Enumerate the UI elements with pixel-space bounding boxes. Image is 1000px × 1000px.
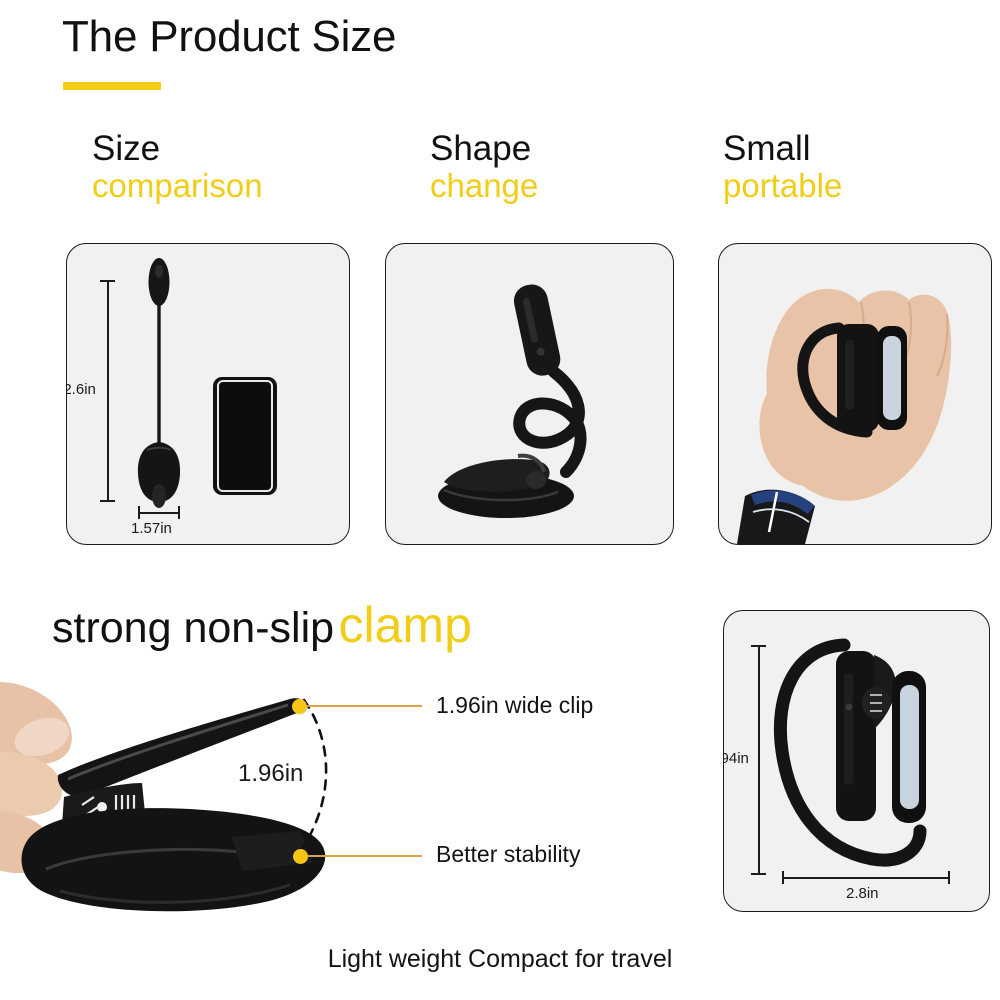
width-dimension-line [138, 512, 180, 514]
title-underline-bar [63, 82, 161, 90]
card-folded-dimensions: 3.94in 2.8in [723, 610, 990, 912]
smartphone-illustration [213, 377, 277, 495]
reading-light-gooseneck-illustration [386, 244, 673, 544]
column-heading-line2: comparison [92, 169, 263, 203]
height-dimension-label: 12.6in [66, 381, 96, 398]
infographic-page: The Product Size Size comparison Shape c… [0, 0, 1000, 1000]
folded-height-dimension-line [758, 645, 760, 875]
footer-caption: Light weight Compact for travel [0, 945, 1000, 974]
folded-width-dimension-line [782, 877, 950, 879]
folded-width-dimension-label: 2.8in [846, 885, 879, 902]
card-small-portable [718, 243, 992, 545]
folded-product-illustration [724, 611, 989, 911]
column-heading-line1: Small [723, 131, 842, 167]
clamp-heading-yellow: clamp [339, 597, 472, 653]
clamp-section-heading: strong non-slip clamp [52, 596, 472, 654]
reading-light-illustration [67, 244, 349, 544]
callout-leader-line-2 [305, 855, 422, 857]
arc-dimension-label: 1.96in [238, 760, 303, 788]
hand-holding-product-illustration [719, 244, 991, 544]
column-heading-line1: Shape [430, 131, 538, 167]
column-heading-line2: portable [723, 169, 842, 203]
card-size-comparison: 12.6in 1.57in [66, 243, 350, 545]
callout-dot-1 [292, 699, 307, 714]
card-shape-change [385, 243, 674, 545]
callout-label-better-stability: Better stability [436, 841, 580, 868]
clamp-heading-black: strong non-slip [52, 604, 334, 652]
callout-label-wide-clip: 1.96in wide clip [436, 692, 593, 719]
column-heading-shape-change: Shape change [430, 131, 538, 202]
column-heading-line1: Size [92, 131, 263, 167]
column-heading-small-portable: Small portable [723, 131, 842, 202]
callout-leader-line-1 [302, 705, 422, 707]
column-heading-line2: change [430, 169, 538, 203]
phone-screen [217, 380, 273, 492]
width-dimension-label: 1.57in [131, 520, 172, 537]
page-title: The Product Size [62, 12, 396, 62]
column-heading-size-comparison: Size comparison [92, 131, 263, 202]
callout-dot-2 [293, 849, 308, 864]
height-dimension-line [107, 280, 109, 502]
folded-height-dimension-label: 3.94in [723, 750, 749, 767]
